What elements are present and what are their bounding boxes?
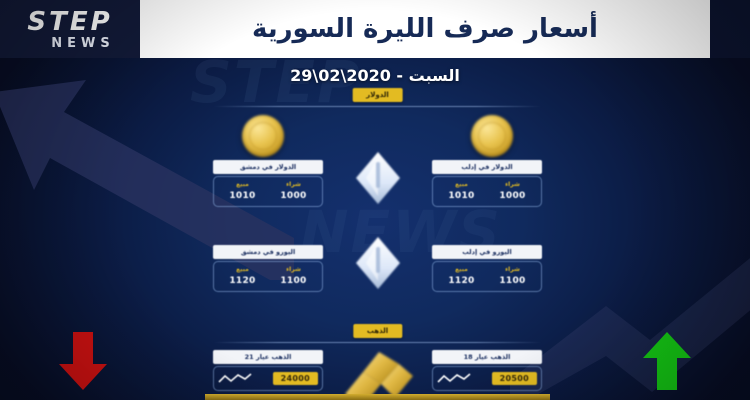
rate-column-label: شراء xyxy=(487,266,538,273)
rate-column-label: مبيع xyxy=(217,266,268,273)
diamond-gem-icon xyxy=(350,150,406,206)
gold-coin-icon xyxy=(471,115,513,157)
rate-card-body: شراء 1100 مبيع 1120 xyxy=(432,261,542,292)
rate-column-value: 1000 xyxy=(268,191,319,201)
rate-column-label: مبيع xyxy=(436,266,487,273)
news-graphic-canvas: STEP NEWS STEP NEWS أسعار صرف الليرة الس… xyxy=(0,0,750,400)
logo: STEP NEWS xyxy=(0,0,140,58)
rate-column: مبيع 1010 xyxy=(436,181,487,201)
rate-card-body: شراء 1000 مبيع 1010 xyxy=(432,176,542,207)
date-text: السبت - 2020\02\29 xyxy=(290,66,460,85)
rate-card-body: شراء 1000 مبيع 1010 xyxy=(213,176,323,207)
gold-card-body: 20500 xyxy=(432,366,542,391)
rate-card-body: شراء 1100 مبيع 1120 xyxy=(213,261,323,292)
rate-column: شراء 1100 xyxy=(268,266,319,286)
gold-card-body: 24000 xyxy=(213,366,323,391)
rate-column-label: مبيع xyxy=(436,181,487,188)
rate-card: الدولار في دمشق شراء 1000 مبيع 1010 xyxy=(213,160,323,207)
trend-line-icon xyxy=(218,372,252,385)
rate-column: شراء 1000 xyxy=(487,181,538,201)
header-bar: STEP NEWS أسعار صرف الليرة السورية xyxy=(0,0,750,58)
rate-card: اليورو في إدلب شراء 1100 مبيع 1120 xyxy=(432,245,542,292)
rate-column: مبيع 1120 xyxy=(217,266,268,286)
rate-column-value: 1010 xyxy=(436,191,487,201)
rate-card-title: اليورو في دمشق xyxy=(213,245,323,259)
date-row: السبت - 2020\02\29 xyxy=(0,58,750,92)
rate-column-value: 1120 xyxy=(217,276,268,286)
rate-column: شراء 1100 xyxy=(487,266,538,286)
logo-news-text: NEWS xyxy=(51,37,114,50)
rate-card-title: الدولار في دمشق xyxy=(213,160,323,174)
trend-line-icon xyxy=(437,372,471,385)
gold-price-badge: 24000 xyxy=(273,372,318,385)
rate-column-label: شراء xyxy=(268,266,319,273)
title-banner: أسعار صرف الليرة السورية xyxy=(140,0,710,58)
section-divider xyxy=(213,342,542,343)
rate-column-value: 1010 xyxy=(217,191,268,201)
rate-column-label: مبيع xyxy=(217,181,268,188)
gold-card-title: الذهب عيار 21 xyxy=(213,350,323,364)
gold-price-badge: 20500 xyxy=(492,372,537,385)
rate-card: الدولار في إدلب شراء 1000 مبيع 1010 xyxy=(432,160,542,207)
rate-column-label: شراء xyxy=(268,181,319,188)
rate-column-label: شراء xyxy=(487,181,538,188)
section-divider xyxy=(213,106,542,107)
rate-column: مبيع 1010 xyxy=(217,181,268,201)
gold-card: الذهب عيار 18 20500 xyxy=(432,350,542,391)
rates-panel: الدولار الدولار في دمشق شراء 1000 xyxy=(205,88,550,400)
bottom-gold-strip xyxy=(205,394,550,400)
header-right-cap xyxy=(710,0,750,58)
rate-column: مبيع 1120 xyxy=(436,266,487,286)
logo-step-text: STEP xyxy=(27,9,112,35)
rate-column: شراء 1000 xyxy=(268,181,319,201)
rate-column-value: 1100 xyxy=(487,276,538,286)
diamond-gem-icon xyxy=(350,235,406,291)
rate-column-value: 1000 xyxy=(487,191,538,201)
rate-card-title: الدولار في إدلب xyxy=(432,160,542,174)
green-up-arrow-icon xyxy=(636,330,698,392)
gold-card-title: الذهب عيار 18 xyxy=(432,350,542,364)
rate-column-value: 1120 xyxy=(436,276,487,286)
red-down-arrow-icon xyxy=(52,330,114,392)
gold-coin-icon xyxy=(242,115,284,157)
gold-card: الذهب عيار 21 24000 xyxy=(213,350,323,391)
section-tag-gold: الذهب xyxy=(353,324,402,338)
gold-bars-icon xyxy=(341,350,415,400)
page-title: أسعار صرف الليرة السورية xyxy=(252,14,598,44)
rate-column-value: 1100 xyxy=(268,276,319,286)
rate-card-title: اليورو في إدلب xyxy=(432,245,542,259)
rate-card: اليورو في دمشق شراء 1100 مبيع 1120 xyxy=(213,245,323,292)
